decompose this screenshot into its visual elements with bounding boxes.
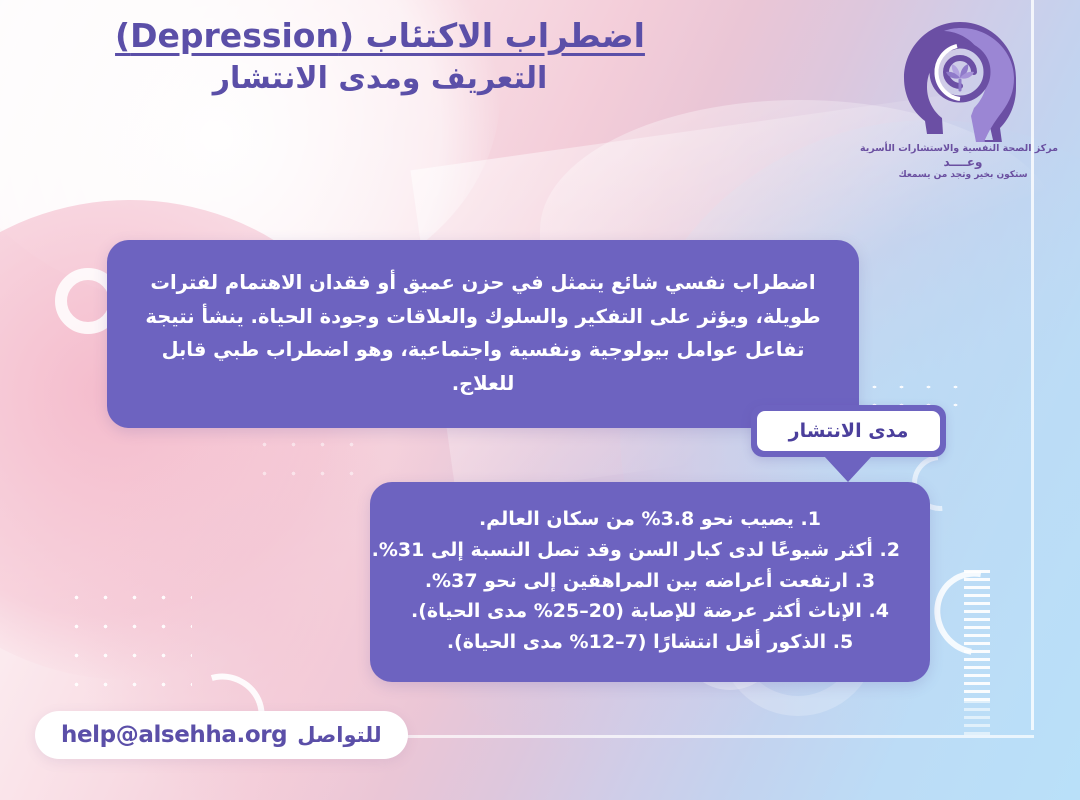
decor-ladder-stripes-secondary	[964, 700, 990, 736]
prevalence-list: 1. يصيب نحو 3.8% من سكان العالم. 2. أكثر…	[400, 504, 900, 658]
infographic-canvas: اضطراب الاكتئاب (Depression) التعريف ومد…	[0, 0, 1080, 800]
prevalence-card: 1. يصيب نحو 3.8% من سكان العالم. 2. أكثر…	[370, 482, 930, 682]
list-item: 2. أكثر شيوعًا لدى كبار السن وقد تصل الن…	[400, 535, 900, 566]
list-item-separator: .	[873, 539, 887, 561]
list-item: 3. ارتفعت أعراضه بين المراهقين إلى نحو 3…	[400, 566, 900, 597]
decor-arc-icon-3	[918, 554, 1035, 672]
page-title: اضطراب الاكتئاب (Depression)	[0, 16, 760, 56]
list-item-separator: .	[826, 631, 840, 653]
list-item-separator: .	[848, 570, 862, 592]
head-profile-brain-leaf-icon	[888, 14, 1038, 142]
list-item-separator: .	[794, 508, 808, 530]
list-item-number: 1	[808, 508, 821, 530]
prevalence-badge-inner: مدى الانتشار	[757, 411, 940, 451]
list-item-separator: .	[862, 600, 876, 622]
list-item-number: 5	[840, 631, 853, 653]
definition-card-tail	[795, 377, 847, 407]
definition-card: اضطراب نفسي شائع يتمثل في حزن عميق أو فق…	[107, 240, 859, 428]
definition-text: اضطراب نفسي شائع يتمثل في حزن عميق أو فق…	[141, 266, 825, 400]
logo-tagline: ستكون بخير وتجد من يسمعك	[868, 170, 1058, 181]
list-item: 5. الذكور أقل انتشارًا (7–12% مدى الحياة…	[400, 627, 900, 658]
contact-label: للتواصل	[297, 723, 381, 747]
list-item-number: 4	[876, 600, 889, 622]
list-item-text: الذكور أقل انتشارًا (7–12% مدى الحياة).	[447, 631, 826, 653]
page-subtitle: التعريف ومدى الانتشار	[0, 60, 760, 98]
list-item-text: أكثر شيوعًا لدى كبار السن وقد تصل النسبة…	[372, 539, 873, 561]
list-item-text: ارتفعت أعراضه بين المراهقين إلى نحو 37%.	[425, 570, 848, 592]
decor-ladder-stripes	[964, 570, 990, 702]
list-item: 4. الإناث أكثر عرضة للإصابة (20–25% مدى …	[400, 596, 900, 627]
prevalence-badge-tail	[824, 456, 872, 482]
list-item: 1. يصيب نحو 3.8% من سكان العالم.	[400, 504, 900, 535]
page-header: اضطراب الاكتئاب (Depression) التعريف ومد…	[0, 16, 760, 98]
prevalence-badge-label: مدى الانتشار	[789, 420, 909, 442]
logo-brand-name: وعــــد	[868, 156, 1058, 169]
list-item-number: 3	[862, 570, 875, 592]
organization-logo: مركز الصحة النفسية والاستشارات الأسرية و…	[868, 14, 1058, 200]
contact-email[interactable]: help@alsehha.org	[61, 722, 287, 748]
list-item-text: يصيب نحو 3.8% من سكان العالم.	[479, 508, 794, 530]
prevalence-badge: مدى الانتشار	[751, 405, 946, 457]
list-item-number: 2	[887, 539, 900, 561]
logo-center-name: مركز الصحة النفسية والاستشارات الأسرية	[868, 143, 1058, 155]
decor-dot-grid-middle	[250, 430, 360, 485]
contact-pill[interactable]: للتواصل help@alsehha.org	[35, 711, 408, 759]
decor-dot-grid-left	[62, 583, 192, 703]
list-item-text: الإناث أكثر عرضة للإصابة (20–25% مدى الح…	[411, 600, 862, 622]
